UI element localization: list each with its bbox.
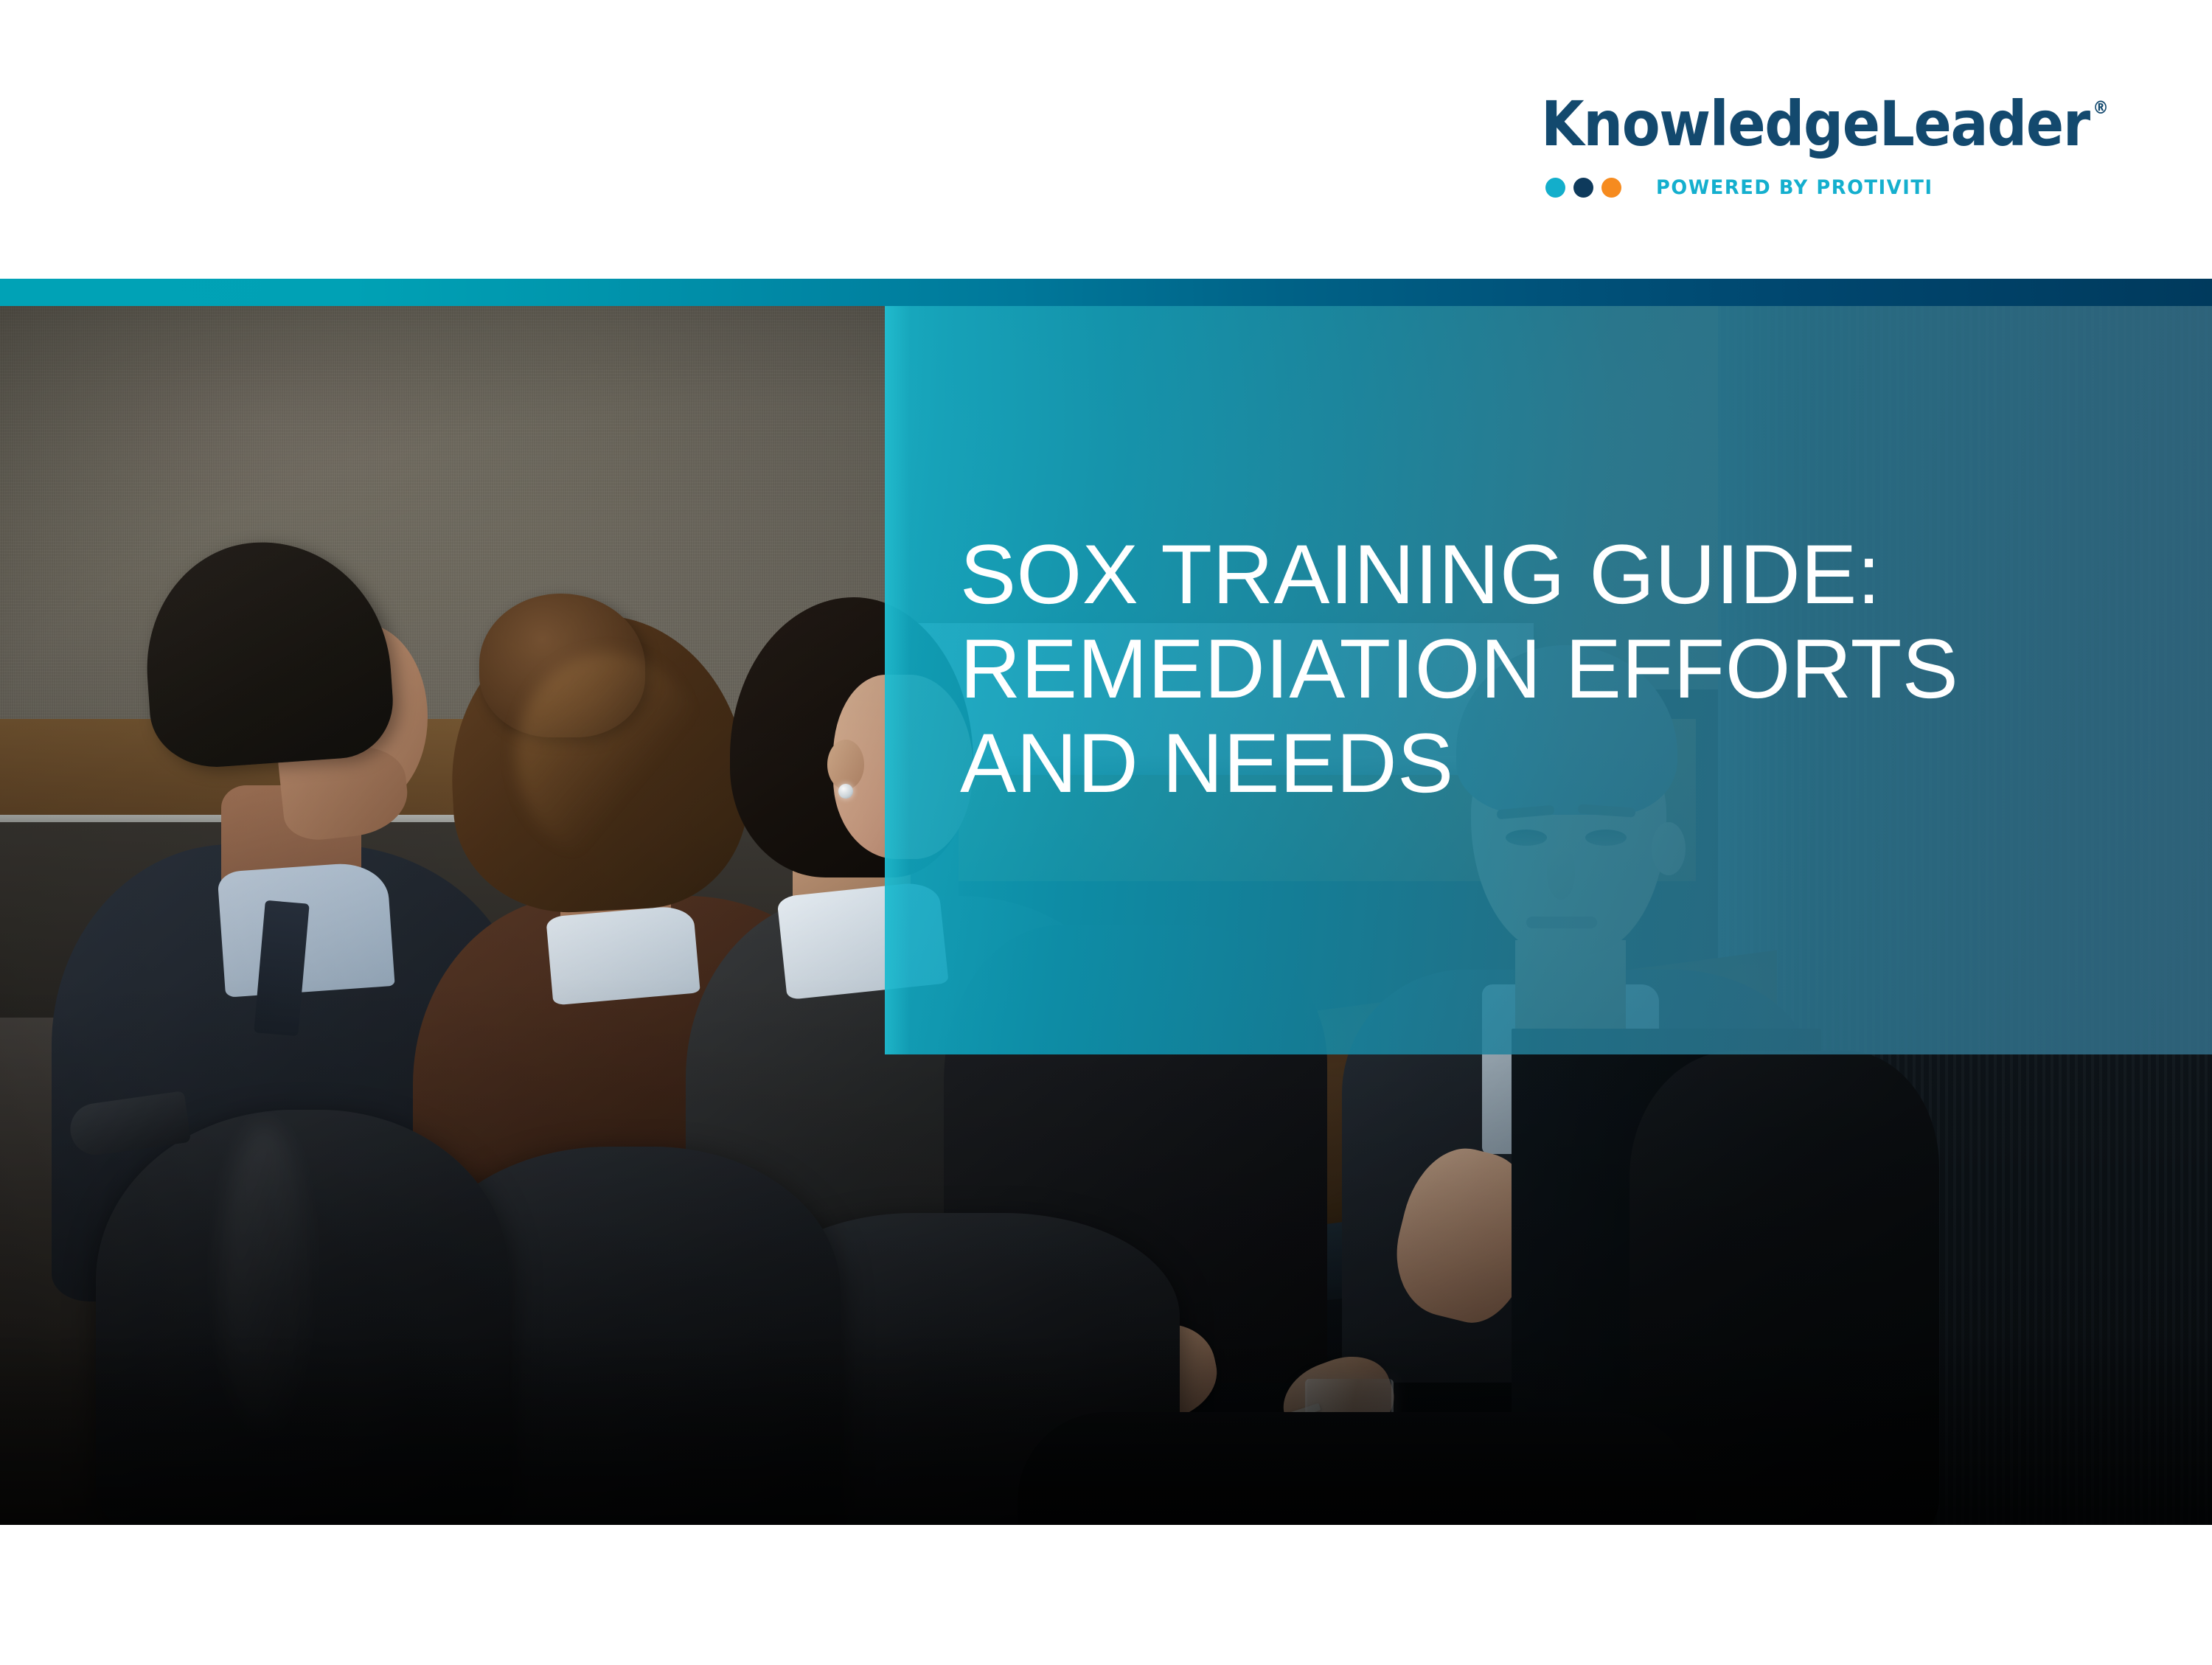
registered-trademark-icon: ® [2093,99,2107,117]
brand-gradient-rule [0,279,2212,306]
header-band: KnowledgeLeader ® POWERED BY PROTIVITI [0,0,2212,279]
title-overlay-left-edge [885,306,910,1054]
brand-dot-orange-icon [1601,178,1621,198]
footer-whitespace [0,1525,2212,1665]
logo-tagline-row: POWERED BY PROTIVITI [1545,176,1947,199]
person-woman-dark-ear [827,740,864,790]
knowledgeleader-logo[interactable]: KnowledgeLeader ® POWERED BY PROTIVITI [1541,94,2072,199]
page-title: SOX TRAINING GUIDE: REMEDIATION EFFORTS … [960,528,2125,811]
person-woman-brown-collar [546,905,700,1006]
logo-tagline: POWERED BY PROTIVITI [1656,176,1933,199]
chair-highlight [221,1125,310,1434]
logo-wordmark: KnowledgeLeader ® [1541,94,2108,154]
hair-highlight [516,653,700,859]
brand-dot-cyan-icon [1545,178,1565,198]
pearl-earring-icon [838,784,853,799]
brand-dot-navy-icon [1573,178,1593,198]
logo-wordmark-text: KnowledgeLeader [1541,94,2090,154]
chair-foreground [1018,1412,1696,1525]
